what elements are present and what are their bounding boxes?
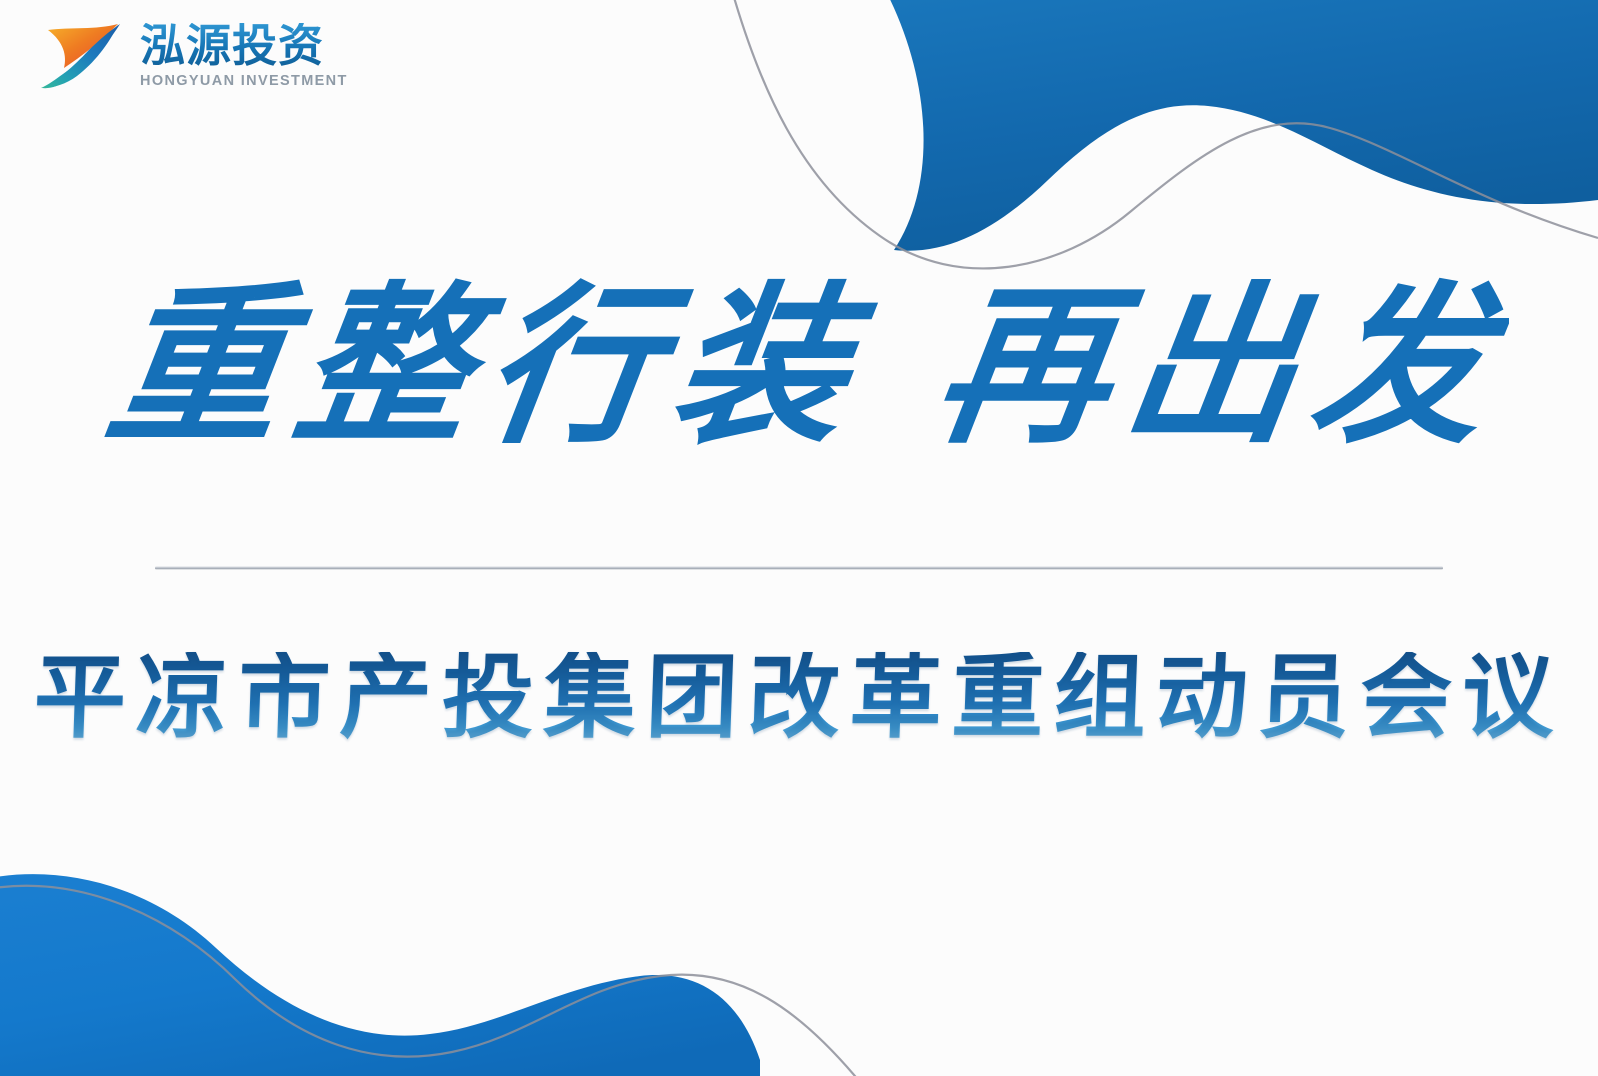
logo-company-name-cn: 泓源投资 — [140, 23, 348, 70]
headline-strokes: 重整行装 再出发 — [89, 250, 1509, 510]
wave-bottom-left-shape — [0, 874, 760, 1076]
wave-top-outline-curve — [733, 0, 1598, 268]
wave-top-right-shape — [880, 0, 1598, 251]
headline-text: 重整行装 再出发 — [97, 267, 1509, 467]
meeting-title: 平凉市产投集团改革重组动员会议 — [32, 652, 1565, 744]
wave-top-right — [905, 0, 1598, 208]
headline-calligraphy: 重整行装 再出发 — [0, 250, 1598, 510]
decorative-waves — [0, 0, 1598, 1076]
presentation-slide: 泓源投资 HONGYUAN INVESTMENT 重整行装 再出发 平凉市产投集… — [0, 0, 1598, 1076]
subtitle-row: 平凉市产投集团改革重组动员会议 — [0, 628, 1598, 768]
wave-bottom-outline-curve — [0, 886, 860, 1076]
divider-line — [155, 566, 1443, 570]
hongyuan-swoosh-icon — [34, 18, 126, 92]
company-logo: 泓源投资 HONGYUAN INVESTMENT — [34, 18, 348, 92]
logo-wordmark: 泓源投资 HONGYUAN INVESTMENT — [140, 23, 348, 89]
logo-company-name-en: HONGYUAN INVESTMENT — [140, 73, 348, 89]
